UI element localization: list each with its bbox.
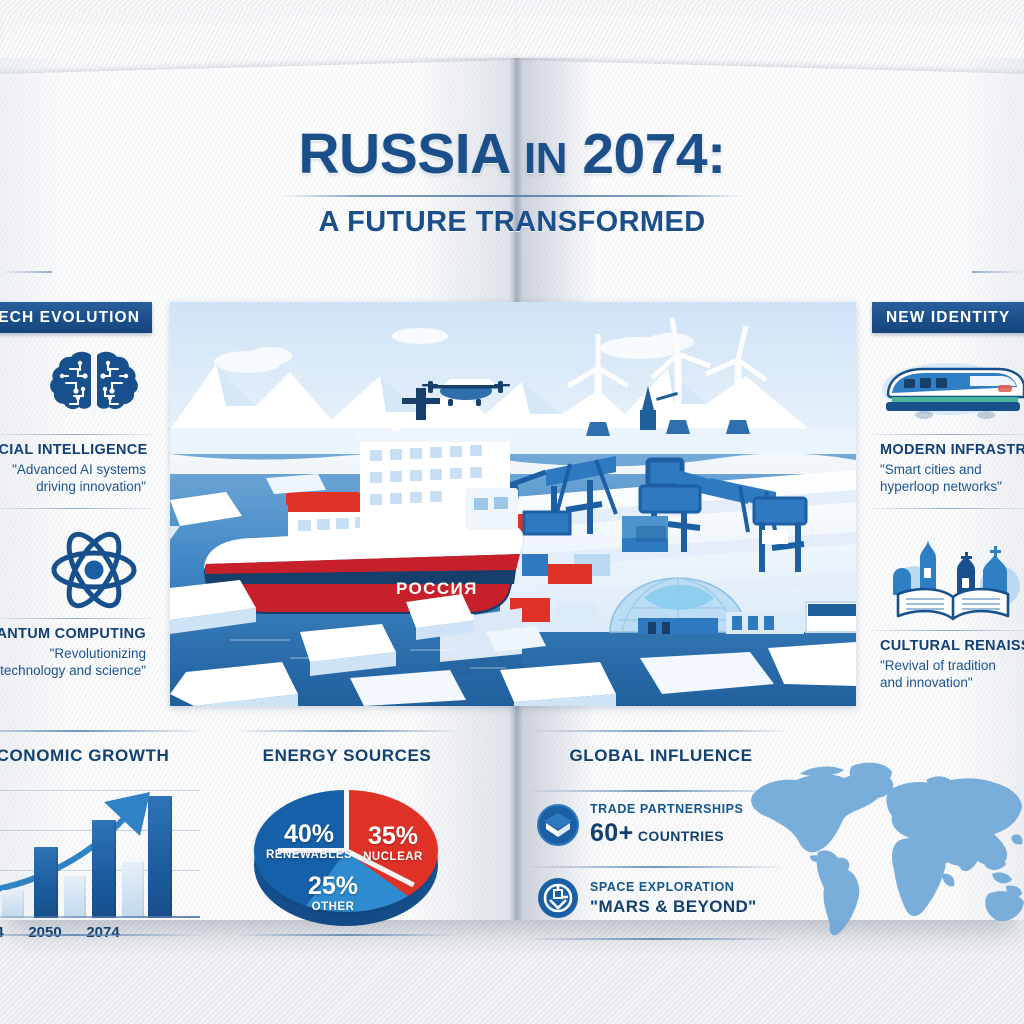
rocket-orbit-icon: [536, 876, 580, 920]
title-block: RUSSIA IN 2074: A FUTURE TRANSFORMED: [0, 126, 1024, 239]
row-space-exploration[interactable]: SPACE EXPLORATION "MARS & BEYOND": [536, 876, 757, 920]
economic-growth-chart: ECONOMIC GROWTH 2024 2050 2074: [0, 748, 200, 948]
arctic-port-illustration: РОССИЯ: [170, 302, 856, 706]
econ-xtick-2074: 2074: [78, 924, 128, 941]
panel-header-right-label: NEW IDENTITY: [886, 309, 1010, 327]
pie-name-renewables: RENEWABLES: [266, 849, 352, 861]
panel-header-tech-evolution: TECH EVOLUTION: [0, 302, 152, 333]
card-modern-infrastructure[interactable]: MODERN INFRASTRUCTURE "Smart cities and …: [872, 340, 1024, 524]
high-speed-train-icon: [872, 344, 1024, 428]
card-cultural-renaissance[interactable]: CULTURAL RENAISSANCE "Revival of traditi…: [872, 524, 1024, 700]
card-title-infrastructure: MODERN INFRASTRUCTURE: [872, 442, 1024, 458]
ship-name-text: РОССИЯ: [396, 579, 478, 598]
space-kicker: SPACE EXPLORATION: [590, 880, 757, 894]
trade-value-big: 60+: [590, 819, 634, 847]
trade-kicker: TRADE PARTNERSHIPS: [590, 802, 743, 816]
atom-icon: [0, 528, 152, 612]
card-desc-infra-line2: hyperloop networks": [880, 479, 1024, 496]
title-word-in: IN: [524, 134, 567, 183]
card-title-culture: CULTURAL RENAISSANCE: [872, 638, 1024, 654]
energy-title: ENERGY SOURCES: [232, 746, 462, 766]
bar-dark-3: [92, 820, 116, 918]
card-desc-quantum-line1: "Revolutionizing: [0, 646, 146, 663]
card-divider: [872, 630, 1024, 631]
trade-partnerships-text: TRADE PARTNERSHIPS 60+ COUNTRIES: [590, 802, 743, 848]
econ-title: ECONOMIC GROWTH: [0, 746, 200, 766]
page-subtitle: A FUTURE TRANSFORMED: [0, 206, 1024, 239]
card-desc-ai: "Advanced AI systems driving innovation": [0, 462, 152, 496]
pie-value-renewables: 40%: [266, 822, 352, 847]
title-divider: [277, 195, 747, 197]
world-map-silhouette: [740, 752, 1024, 942]
pie-name-nuclear: NUCLEAR: [362, 851, 424, 863]
trade-value: 60+ COUNTRIES: [590, 819, 743, 848]
card-desc-infrastructure: "Smart cities and hyperloop networks": [872, 462, 1024, 496]
bar-light-2: [64, 876, 86, 918]
card-divider-bottom: [0, 508, 152, 509]
card-title-quantum: QUANTUM COMPUTING: [0, 626, 152, 642]
card-title-ai: ARTIFICIAL INTELLIGENCE: [0, 442, 152, 458]
hero-svg: РОССИЯ: [170, 302, 856, 706]
card-artificial-intelligence[interactable]: ARTIFICIAL INTELLIGENCE "Advanced AI sys…: [0, 340, 152, 524]
trade-value-rest: COUNTRIES: [638, 828, 724, 844]
energy-sources-chart: ENERGY SOURCES 40% RENEWABLES 35% NUCLEA…: [232, 748, 462, 948]
pie-label-other: 25% OTHER: [296, 874, 370, 913]
card-desc-infra-line1: "Smart cities and: [880, 462, 1024, 479]
card-desc-quantum: "Revolutionizing technology and science": [0, 646, 152, 680]
title-word-year: 2074:: [582, 122, 725, 186]
space-value: "MARS & BEYOND": [590, 897, 757, 917]
left-sidebar: ARTIFICIAL INTELLIGENCE "Advanced AI sys…: [0, 340, 152, 688]
space-exploration-text: SPACE EXPLORATION "MARS & BEYOND": [590, 880, 757, 917]
card-desc-quantum-line2: technology and science": [0, 663, 146, 680]
right-sidebar: MODERN INFRASTRUCTURE "Smart cities and …: [872, 340, 1024, 700]
econ-x-axis: [0, 916, 200, 918]
handshake-globe-icon: [536, 803, 580, 847]
bar-light-3: [122, 862, 144, 918]
panel-header-left-label: TECH EVOLUTION: [0, 309, 140, 327]
bar-light-1: [2, 890, 24, 918]
card-desc-culture-line1: "Revival of tradition: [880, 658, 1024, 675]
edge-rule-right: [972, 271, 1024, 273]
bar-dark-2: [34, 847, 58, 918]
brain-circuit-icon: [0, 344, 152, 428]
econ-plot-area: [0, 782, 200, 918]
card-divider: [872, 434, 1024, 435]
edge-rule-left: [0, 271, 52, 273]
card-desc-ai-line1: "Advanced AI systems: [0, 462, 146, 479]
card-divider: [0, 434, 152, 435]
econ-xtick-2050: 2050: [20, 924, 70, 941]
econ-rule-bottom: [0, 934, 200, 936]
card-desc-ai-line2: driving innovation": [0, 479, 146, 496]
title-word-russia: RUSSIA: [298, 122, 508, 186]
energy-rule-bottom: [240, 934, 454, 936]
pie-name-other: OTHER: [296, 901, 370, 913]
econ-xtick-2024: 2024: [0, 924, 12, 941]
card-divider-bottom: [872, 508, 1024, 509]
cathedral-book-icon: [872, 528, 1024, 624]
bar-dark-4: [148, 796, 172, 918]
pie-value-other: 25%: [296, 874, 370, 899]
brochure-spread: RUSSIA IN 2074: A FUTURE TRANSFORMED TEC…: [0, 58, 1024, 920]
card-desc-culture-line2: and innovation": [880, 675, 1024, 692]
pie-value-nuclear: 35%: [362, 824, 424, 849]
global-rule-top: [536, 730, 786, 732]
card-divider: [0, 618, 152, 619]
econ-rule-top: [0, 730, 200, 732]
pie-label-renewables: 40% RENEWABLES: [266, 822, 352, 861]
energy-rule-top: [240, 730, 454, 732]
pie-label-nuclear: 35% NUCLEAR: [362, 824, 424, 863]
row-trade-partnerships[interactable]: TRADE PARTNERSHIPS 60+ COUNTRIES: [536, 802, 743, 848]
panel-header-new-identity: NEW IDENTITY: [872, 302, 1024, 333]
page-title: RUSSIA IN 2074:: [0, 126, 1024, 183]
pie-chart: 40% RENEWABLES 35% NUCLEAR 25% OTHER: [250, 782, 442, 932]
card-desc-culture: "Revival of tradition and innovation": [872, 658, 1024, 692]
card-quantum-computing[interactable]: QUANTUM COMPUTING "Revolutionizing techn…: [0, 524, 152, 688]
